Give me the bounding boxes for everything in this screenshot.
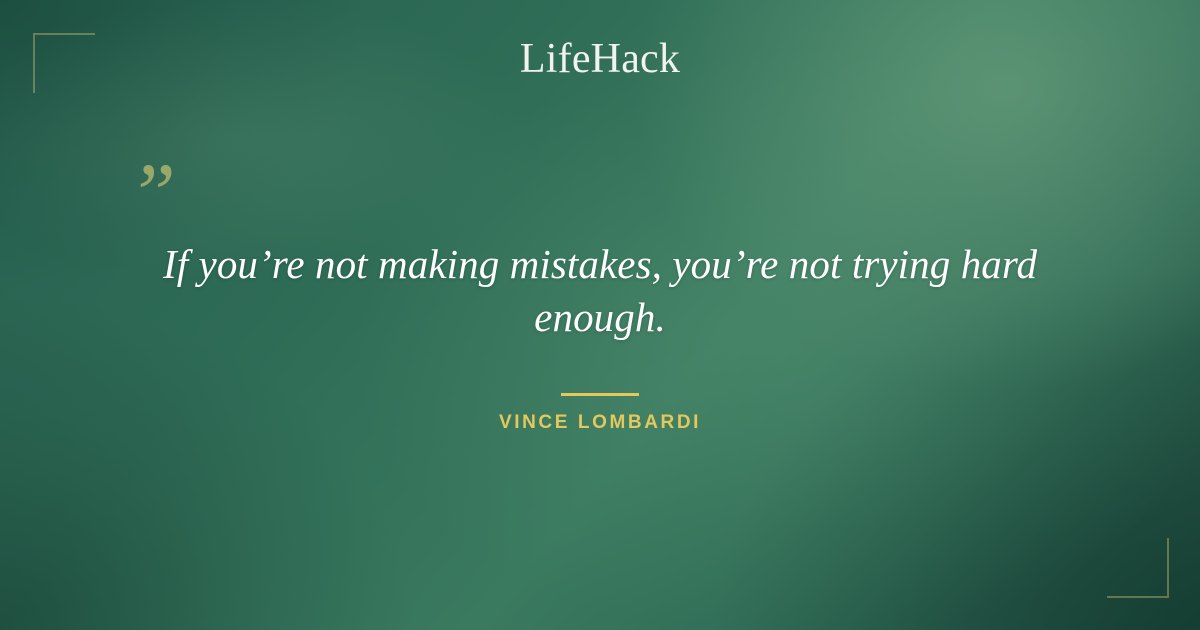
brand-logo: LifeHack bbox=[0, 38, 1200, 80]
divider-wrap bbox=[0, 383, 1200, 401]
quote-card: LifeHack ” If you’re not making mistakes… bbox=[0, 0, 1200, 630]
quote-author: VINCE LOMBARDI bbox=[0, 412, 1200, 434]
gold-divider-rule bbox=[561, 393, 639, 396]
quote-text: If you’re not making mistakes, you’re no… bbox=[100, 238, 1100, 345]
quote-block: If you’re not making mistakes, you’re no… bbox=[100, 238, 1100, 345]
corner-bracket-bottom-right-icon bbox=[1107, 538, 1169, 598]
quotation-mark-icon: ” bbox=[128, 150, 188, 220]
